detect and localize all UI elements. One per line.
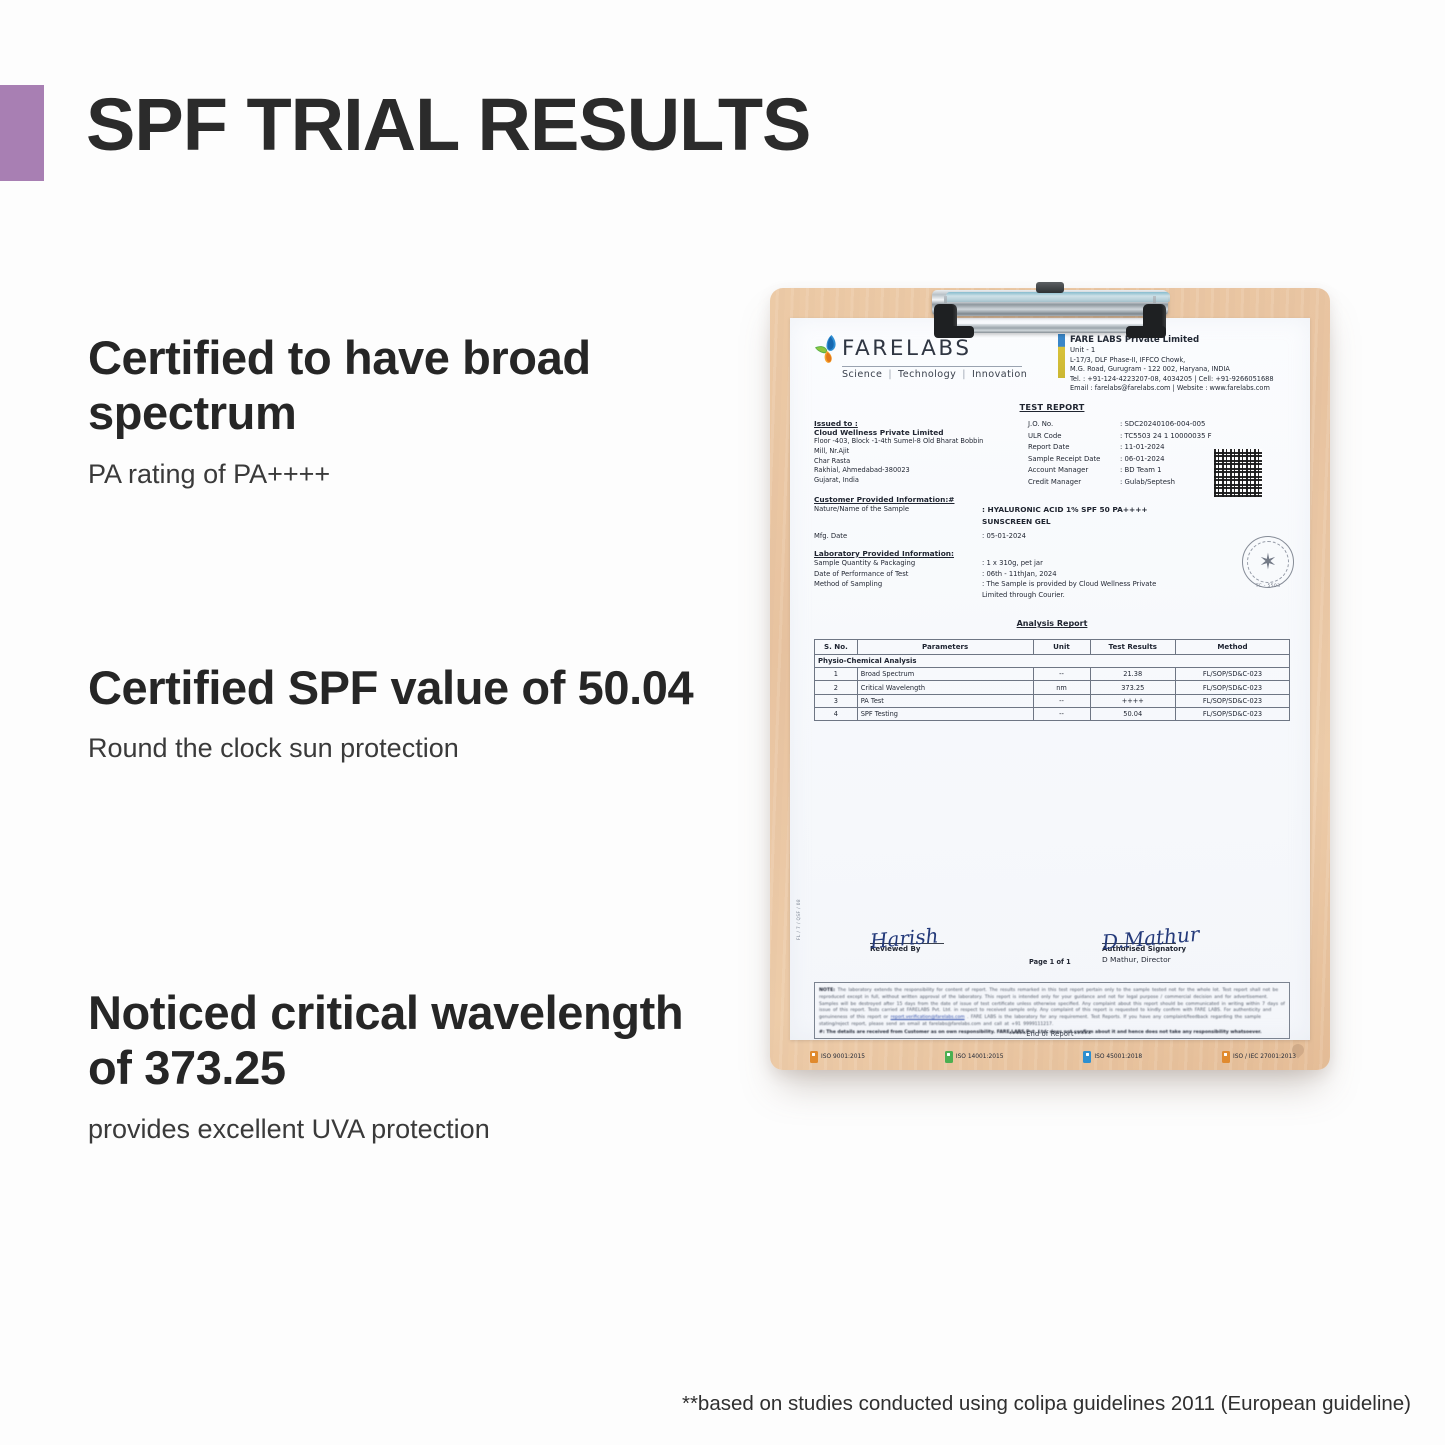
- section-label: Physio-Chemical Analysis: [815, 654, 1290, 667]
- info-key: [814, 590, 982, 601]
- iso-book-icon: [1083, 1051, 1091, 1063]
- info-row: Method of Sampling: The Sample is provid…: [814, 579, 1290, 590]
- issued-to-label: Issued to :: [814, 419, 1024, 428]
- info-row: Nature/Name of the Sample: HYALURONIC AC…: [814, 504, 1290, 516]
- feature-subtext: provides excellent UVA protection: [88, 1112, 708, 1147]
- clip-grip-foot-left: [934, 326, 974, 338]
- meta-key: Credit Manager: [1028, 477, 1120, 488]
- cell-result: 21.38: [1090, 667, 1176, 680]
- cell-method: FL/SOP/SD&C-023: [1176, 694, 1290, 707]
- table-row: 4 SPF Testing -- 50.04 FL/SOP/SD&C-023: [815, 708, 1290, 721]
- feature-block-spf-value: Certified SPF value of 50.04 Round the c…: [88, 660, 693, 767]
- cell-parameter: Critical Wavelength: [857, 681, 1033, 694]
- info-key: [814, 516, 982, 528]
- cell-sno: 4: [815, 708, 858, 721]
- feature-heading: Certified SPF value of 50.04: [88, 660, 693, 715]
- info-row: SUNSCREEN GEL: [814, 516, 1290, 528]
- clip-grip-foot-right: [1126, 326, 1166, 338]
- tagline-science: Science: [842, 369, 882, 380]
- meta-key: Account Manager: [1028, 465, 1120, 476]
- info-key: Sample Quantity & Packaging: [814, 558, 982, 569]
- cell-sno: 3: [815, 694, 858, 707]
- client-address-line-3: Char Rasta: [814, 457, 1024, 467]
- signature-area: Harish Reviewed By Page 1 of 1 D.Mathur …: [814, 930, 1290, 978]
- meta-key: Report Date: [1028, 442, 1120, 453]
- customer-provided-info: Customer Provided Information:# Nature/N…: [814, 495, 1290, 542]
- tagline-separator: |: [888, 369, 892, 380]
- authorised-signature: D.Mathur: [1101, 926, 1199, 950]
- logo-divider: [842, 366, 1022, 367]
- feature-subtext: Round the clock sun protection: [88, 731, 693, 766]
- lab-email-line: Email : farelabs@farelabs.com | Website …: [1070, 384, 1274, 393]
- authorised-signatory-block: D.Mathur Authorised Signatory D Mathur, …: [1102, 930, 1199, 964]
- iso-badge-14001: ISO 14001:2015: [945, 1051, 1004, 1063]
- iso-book-icon: [1222, 1051, 1230, 1063]
- info-value: : The Sample is provided by Cloud Wellne…: [982, 579, 1290, 590]
- th-unit: Unit: [1033, 640, 1090, 654]
- tagline-separator: |: [962, 369, 966, 380]
- info-value: : 05-01-2024: [982, 531, 1290, 542]
- form-margin-code: FL / 7 / QSF / 08: [797, 899, 802, 940]
- info-key: Method of Sampling: [814, 579, 982, 590]
- feature-subtext: PA rating of PA++++: [88, 457, 708, 492]
- feature-block-broad-spectrum: Certified to have broad spectrum PA rati…: [88, 330, 708, 492]
- meta-value: : TC5503 24 1 10000035 F: [1120, 431, 1278, 442]
- iso-label: ISO 45001:2018: [1094, 1054, 1142, 1060]
- meta-key: ULR Code: [1028, 431, 1120, 442]
- page-number: Page 1 of 1: [1029, 958, 1071, 966]
- logo-tagline: Science | Technology | Innovation: [842, 369, 1044, 380]
- end-of-report-text: *****End of Report*****: [790, 1030, 1310, 1038]
- info-value: : HYALURONIC ACID 1% SPF 50 PA++++: [982, 504, 1290, 516]
- issued-to-block: Issued to : Cloud Wellness Private Limit…: [814, 419, 1024, 488]
- info-key: Date of Performance of Test: [814, 569, 982, 580]
- iso-certification-row: ISO 9001:2015 ISO 14001:2015 ISO 45001:2…: [810, 1051, 1296, 1063]
- cell-result: ++++: [1090, 694, 1176, 707]
- iso-label: ISO / IEC 27001:2013: [1233, 1054, 1296, 1060]
- feature-heading: Noticed critical wavelength of 373.25: [88, 985, 708, 1096]
- report-info-columns: Issued to : Cloud Wellness Private Limit…: [814, 419, 1290, 488]
- th-results: Test Results: [1090, 640, 1176, 654]
- meta-key: J.O. No.: [1028, 419, 1120, 430]
- lab-address-line-1: L-17/3, DLF Phase-II, IFFCO Chowk,: [1070, 356, 1274, 365]
- client-company-name: Cloud Wellness Private Limited: [814, 428, 1024, 437]
- table-section-row: Physio-Chemical Analysis: [815, 654, 1290, 667]
- reviewed-by-block: Harish Reviewed By: [870, 930, 944, 953]
- cell-result: 50.04: [1090, 708, 1176, 721]
- note-label: NOTE:: [819, 988, 835, 993]
- cell-unit: --: [1033, 694, 1090, 707]
- info-row: Mfg. Date: 05-01-2024: [814, 531, 1290, 542]
- client-address-line-1: Floor -403, Block -1-4th Sumel-8 Old Bha…: [814, 437, 1024, 447]
- clipboard: FARELABS Science | Technology | Innovati…: [770, 288, 1330, 1070]
- iso-book-icon: [810, 1051, 818, 1063]
- laboratory-provided-info: Laboratory Provided Information: Sample …: [814, 549, 1290, 602]
- meta-value: : SDC20240106-004-005: [1120, 419, 1278, 430]
- tagline-innovation: Innovation: [972, 369, 1027, 380]
- cell-method: FL/SOP/SD&C-023: [1176, 667, 1290, 680]
- purple-accent-bar: [0, 85, 44, 181]
- iso-badge-27001: ISO / IEC 27001:2013: [1222, 1051, 1296, 1063]
- iso-badge-9001: ISO 9001:2015: [810, 1051, 865, 1063]
- info-value: Limited through Courier.: [982, 590, 1290, 601]
- info-key: Mfg. Date: [814, 531, 982, 542]
- cell-parameter: Broad Spectrum: [857, 667, 1033, 680]
- iso-book-icon: [945, 1051, 953, 1063]
- note-email-link[interactable]: report.verification@farelabs.com: [891, 1015, 965, 1020]
- cell-method: FL/SOP/SD&C-023: [1176, 681, 1290, 694]
- test-report-document: FARELABS Science | Technology | Innovati…: [790, 318, 1310, 1040]
- iso-label: ISO 14001:2015: [956, 1054, 1004, 1060]
- clip-metal-bar: [932, 290, 1168, 316]
- iso-badge-45001: ISO 45001:2018: [1083, 1051, 1142, 1063]
- lab-phone-line: Tel. : +91-124-4223207-08, 4034205 | Cel…: [1070, 375, 1274, 384]
- cell-method: FL/SOP/SD&C-023: [1176, 708, 1290, 721]
- page-title: SPF TRIAL RESULTS: [86, 86, 810, 164]
- clipboard-clip-icon: [924, 282, 1176, 356]
- table-row: 2 Critical Wavelength nm 373.25 FL/SOP/S…: [815, 681, 1290, 694]
- meta-row: ULR Code: TC5503 24 1 10000035 F: [1028, 431, 1278, 442]
- authorised-signatory-name: D Mathur, Director: [1102, 955, 1199, 964]
- info-row: Sample Quantity & Packaging: 1 x 310g, p…: [814, 558, 1290, 569]
- iso-label: ISO 9001:2015: [821, 1054, 865, 1060]
- qr-code-icon: [1214, 449, 1262, 497]
- client-address-line-4: Rakhial, Ahmedabad-380023: [814, 466, 1024, 476]
- clip-thumb-nub: [1036, 282, 1064, 293]
- feature-heading: Certified to have broad spectrum: [88, 330, 708, 441]
- analysis-results-table: S. No. Parameters Unit Test Results Meth…: [814, 639, 1290, 721]
- report-meta-block: J.O. No.: SDC20240106-004-005 ULR Code: …: [1024, 419, 1278, 488]
- cell-unit: nm: [1033, 681, 1090, 694]
- reviewer-signature: Harish: [869, 927, 944, 949]
- info-row: Limited through Courier.: [814, 590, 1290, 601]
- info-value: SUNSCREEN GEL: [982, 516, 1290, 528]
- cell-unit: --: [1033, 708, 1090, 721]
- table-row: 3 PA Test -- ++++ FL/SOP/SD&C-023: [815, 694, 1290, 707]
- farelabs-droplet-icon: [814, 334, 842, 364]
- report-paper: FARELABS Science | Technology | Innovati…: [790, 318, 1310, 1040]
- tagline-technology: Technology: [898, 369, 956, 380]
- nabl-accreditation-stamp-icon: ✶ TC - 5503: [1242, 536, 1294, 588]
- cell-parameter: SPF Testing: [857, 708, 1033, 721]
- clip-lower-bar: [954, 324, 1146, 333]
- info-row: Date of Performance of Test: 06th - 11th…: [814, 569, 1290, 580]
- clip-bar-highlight: [946, 292, 1170, 302]
- th-method: Method: [1176, 640, 1290, 654]
- client-address-line-5: Gujarat, India: [814, 476, 1024, 486]
- th-parameters: Parameters: [857, 640, 1033, 654]
- lab-info-label: Laboratory Provided Information:: [814, 549, 1290, 558]
- cell-parameter: PA Test: [857, 694, 1033, 707]
- cell-sno: 1: [815, 667, 858, 680]
- th-sno: S. No.: [815, 640, 858, 654]
- meta-row: J.O. No.: SDC20240106-004-005: [1028, 419, 1278, 430]
- table-header-row: S. No. Parameters Unit Test Results Meth…: [815, 640, 1290, 654]
- client-address-line-2: Mill, Nr.Ajit: [814, 447, 1024, 457]
- table-row: 1 Broad Spectrum -- 21.38 FL/SOP/SD&C-02…: [815, 667, 1290, 680]
- feature-block-critical-wavelength: Noticed critical wavelength of 373.25 pr…: [88, 985, 708, 1147]
- analysis-report-title: Analysis Report: [814, 619, 1290, 628]
- meta-key: Sample Receipt Date: [1028, 454, 1120, 465]
- cell-sno: 2: [815, 681, 858, 694]
- lab-address-line-2: M.G. Road, Gurugram - 122 002, Haryana, …: [1070, 365, 1274, 374]
- stamp-code-text: TC - 5503: [1256, 584, 1281, 589]
- document-title: TEST REPORT: [814, 402, 1290, 412]
- cell-result: 373.25: [1090, 681, 1176, 694]
- cell-unit: --: [1033, 667, 1090, 680]
- footnote-text: **based on studies conducted using colip…: [682, 1392, 1411, 1416]
- info-key: Nature/Name of the Sample: [814, 504, 982, 516]
